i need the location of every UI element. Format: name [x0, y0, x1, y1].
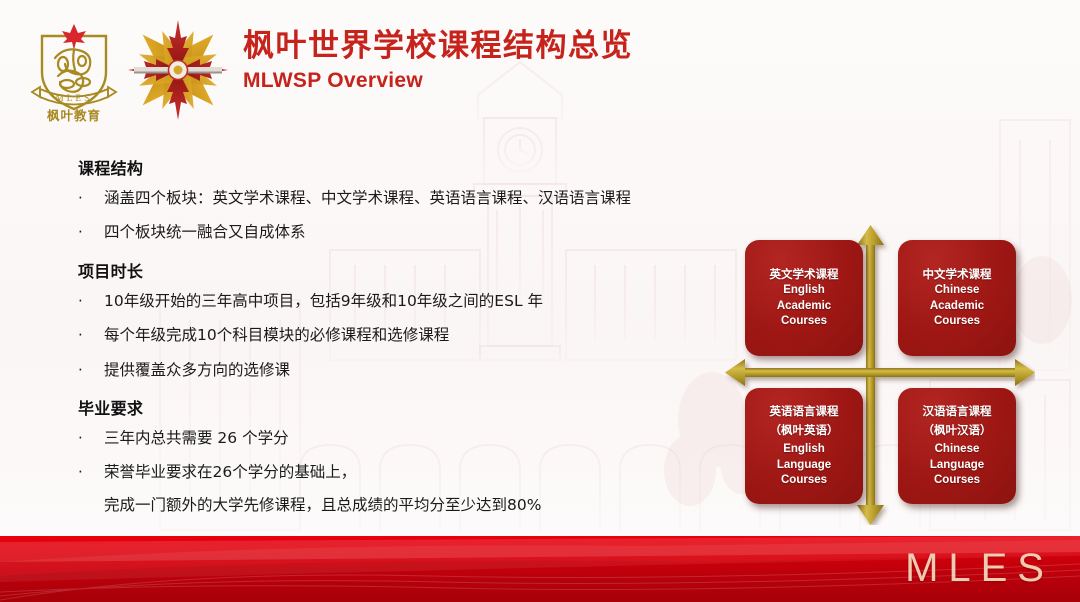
footer-banner: MLES: [0, 536, 1080, 602]
list-item: · 荣誉毕业要求在26个学分的基础上， 完成一门额外的大学先修课程，且总成绩的平…: [78, 463, 748, 515]
quadrant-title-en-2: Language: [777, 458, 831, 474]
list-item-subtext: 完成一门额外的大学先修课程，且总成绩的平均分至少达到80%: [104, 496, 748, 515]
quadrant-chinese-language[interactable]: 汉语语言课程 （枫叶汉语） Chinese Language Courses: [898, 388, 1016, 504]
list-item: · 四个板块统一融合又自成体系: [78, 223, 748, 242]
crest-banner-text: MLES: [56, 93, 93, 103]
list-item: · 提供覆盖众多方向的选修课: [78, 361, 748, 380]
quadrant-title-en-2: Language: [930, 458, 984, 474]
quadrant-title-cn: 中文学术课程: [923, 266, 992, 283]
content-body: 课程结构 · 涵盖四个板块：英文学术课程、中文学术课程、英语语言课程、汉语语言课…: [78, 155, 748, 530]
list-item-text: 涵盖四个板块：英文学术课程、中文学术课程、英语语言课程、汉语语言课程: [104, 189, 748, 208]
list-item-text: 三年内总共需要 26 个学分: [104, 429, 748, 448]
list-item-text: 荣誉毕业要求在26个学分的基础上，: [104, 463, 356, 481]
quadrant-title-en-2: Academic: [777, 299, 831, 315]
footer-brand-text: MLES: [905, 546, 1054, 591]
bullet-marker: ·: [78, 326, 104, 345]
list-item-text: 每个年级完成10个科目模块的必修课程和选修课程: [104, 326, 748, 345]
slide-header: MLES 枫叶教育: [0, 0, 1080, 128]
bullet-marker: ·: [78, 189, 104, 208]
quadrant-english-academic[interactable]: 英文学术课程 English Academic Courses: [745, 240, 863, 356]
quadrant-english-language[interactable]: 英语语言课程 （枫叶英语） English Language Courses: [745, 388, 863, 504]
quadrant-title-en-3: Courses: [781, 314, 827, 330]
list-item: · 10年级开始的三年高中项目，包括9年级和10年级之间的ESL 年: [78, 292, 748, 311]
list-item: · 三年内总共需要 26 个学分: [78, 429, 748, 448]
bullet-marker: ·: [78, 223, 104, 242]
quadrant-title-cn: 英文学术课程: [770, 266, 839, 283]
quadrant-title-en-1: Chinese: [935, 442, 980, 458]
maple-star-emblem-icon: [126, 18, 230, 122]
quadrant-title-en-3: Courses: [934, 314, 980, 330]
bullet-marker: ·: [78, 463, 104, 482]
section-heading: 毕业要求: [78, 395, 748, 419]
quadrant-title-cn: 汉语语言课程: [923, 403, 992, 420]
list-item-text: 10年级开始的三年高中项目，包括9年级和10年级之间的ESL 年: [104, 292, 748, 311]
list-item: · 每个年级完成10个科目模块的必修课程和选修课程: [78, 326, 748, 345]
mles-crest-logo-icon: MLES 枫叶教育: [22, 14, 126, 122]
four-pillar-quadrant-diagram: 英文学术课程 English Academic Courses 中文学术课程 C…: [725, 225, 1035, 525]
quadrant-subtitle-cn: （枫叶汉语）: [923, 420, 992, 442]
quadrant-subtitle-cn: （枫叶英语）: [770, 420, 839, 442]
quadrant-title-en-1: English: [783, 283, 825, 299]
bullet-marker: ·: [78, 429, 104, 448]
crest-label-cn: 枫叶教育: [47, 108, 101, 122]
list-item-text: 四个板块统一融合又自成体系: [104, 223, 748, 242]
list-item-text: 提供覆盖众多方向的选修课: [104, 361, 748, 380]
page-title-cn: 枫叶世界学校课程结构总览: [243, 28, 633, 65]
quadrant-chinese-academic[interactable]: 中文学术课程 Chinese Academic Courses: [898, 240, 1016, 356]
bullet-marker: ·: [78, 292, 104, 311]
quadrant-title-en-2: Academic: [930, 299, 984, 315]
page-title-en: MLWSP Overview: [243, 69, 633, 93]
title-block: 枫叶世界学校课程结构总览 MLWSP Overview: [243, 28, 633, 93]
quadrant-title-en-1: English: [783, 442, 825, 458]
list-item: · 涵盖四个板块：英文学术课程、中文学术课程、英语语言课程、汉语语言课程: [78, 189, 748, 208]
slide-root: MLES 枫叶教育: [0, 0, 1080, 602]
quadrant-title-cn: 英语语言课程: [770, 403, 839, 420]
quadrant-title-en-3: Courses: [934, 473, 980, 489]
quadrant-title-en-1: Chinese: [935, 283, 980, 299]
section-heading: 课程结构: [78, 155, 748, 179]
bullet-marker: ·: [78, 361, 104, 380]
quadrant-title-en-3: Courses: [781, 473, 827, 489]
section-heading: 项目时长: [78, 258, 748, 282]
